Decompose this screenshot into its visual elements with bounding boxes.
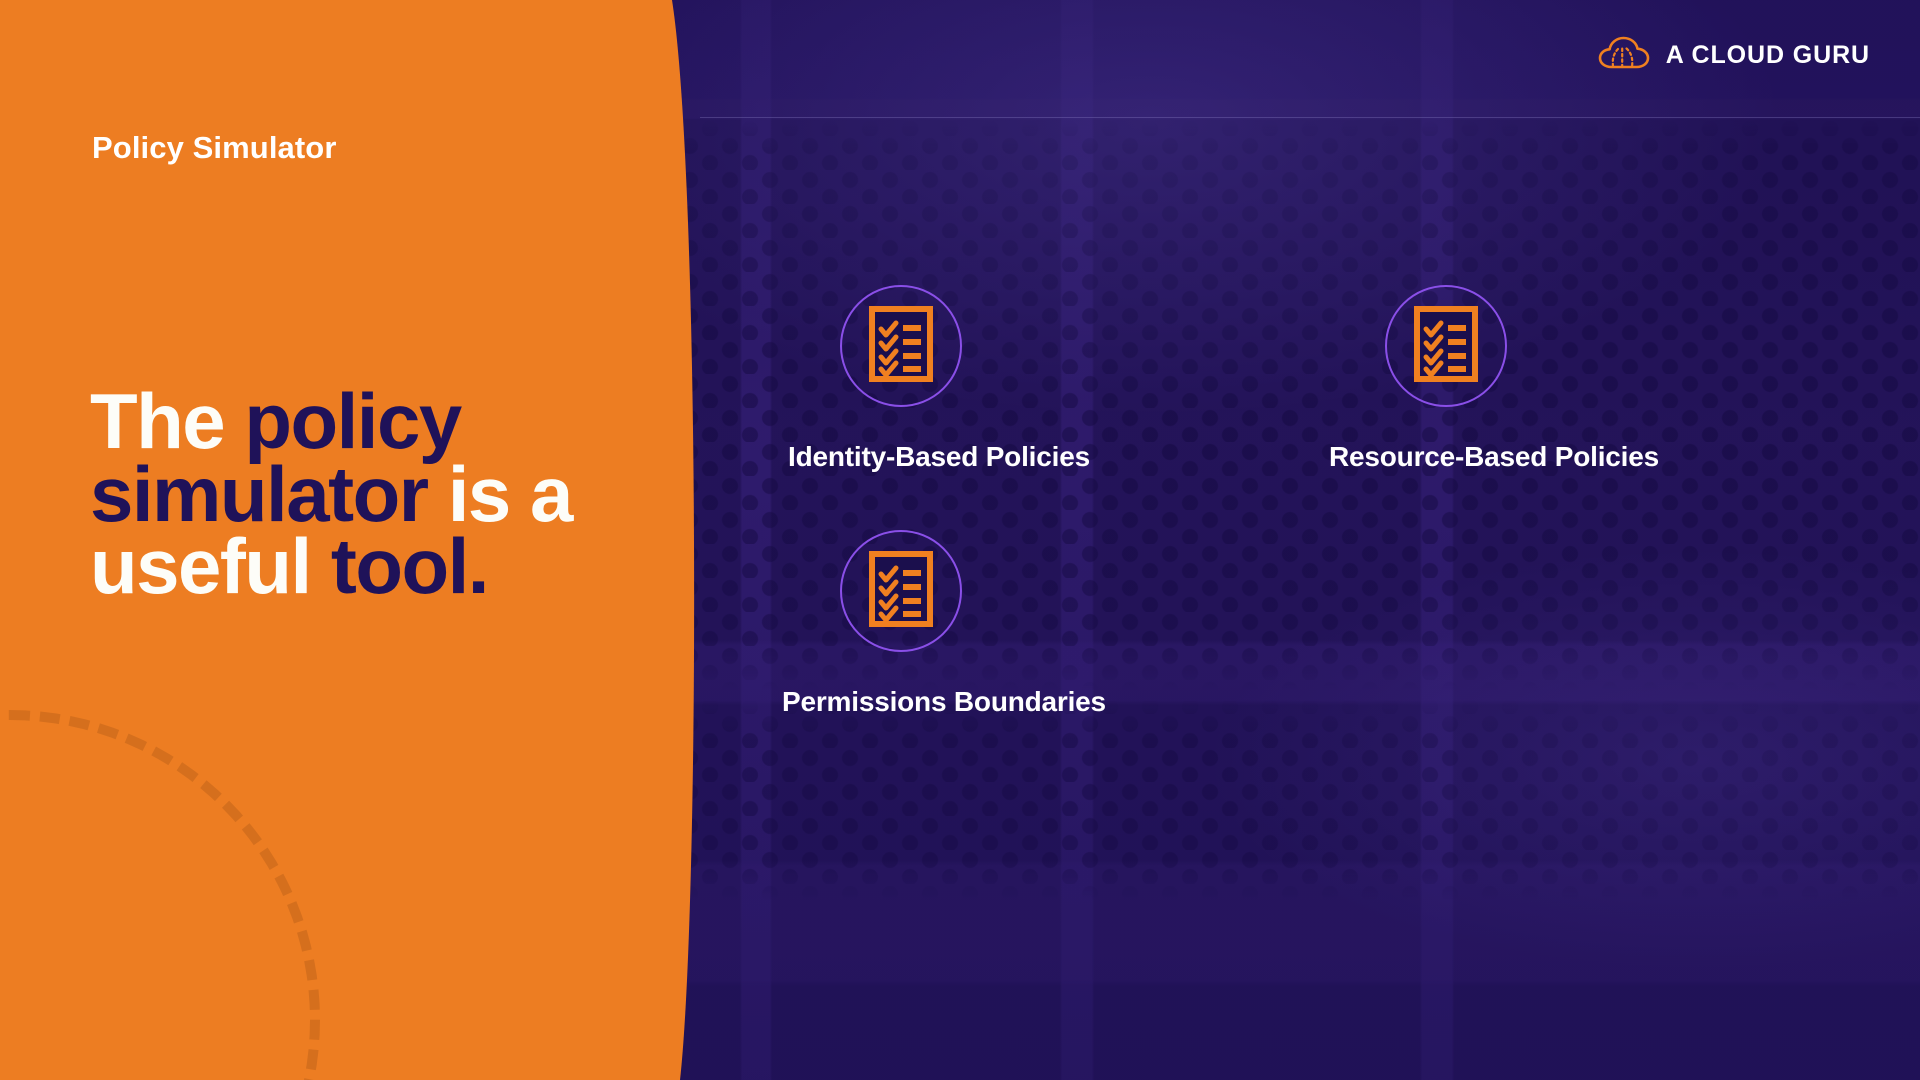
- cloud-icon: [1598, 36, 1650, 75]
- headline-part-4: useful: [90, 522, 331, 610]
- feature-identity-based-policies[interactable]: Identity-Based Policies: [840, 285, 1142, 473]
- feature-label: Identity-Based Policies: [788, 441, 1090, 473]
- headline: The policy simulator is a useful tool.: [90, 385, 610, 603]
- feature-permissions-boundaries[interactable]: Permissions Boundaries: [840, 530, 1164, 718]
- icon-ring: [1385, 285, 1507, 407]
- icon-ring: [840, 285, 962, 407]
- checklist-icon: [869, 306, 933, 387]
- checklist-icon: [869, 551, 933, 632]
- header-divider-rule: [700, 117, 1920, 118]
- feature-label: Resource-Based Policies: [1329, 441, 1659, 473]
- brand-logo[interactable]: A CLOUD GURU: [1598, 36, 1870, 75]
- headline-part-5: tool.: [331, 522, 488, 610]
- feature-label: Permissions Boundaries: [782, 686, 1106, 718]
- section-title: Policy Simulator: [92, 130, 337, 166]
- icon-ring: [840, 530, 962, 652]
- brand-logo-text: A CLOUD GURU: [1666, 41, 1870, 70]
- decorative-dashed-arc: [0, 710, 320, 1080]
- slide-canvas: Policy Simulator The policy simulator is…: [0, 0, 1920, 1080]
- feature-resource-based-policies[interactable]: Resource-Based Policies: [1385, 285, 1715, 473]
- checklist-icon: [1414, 306, 1478, 387]
